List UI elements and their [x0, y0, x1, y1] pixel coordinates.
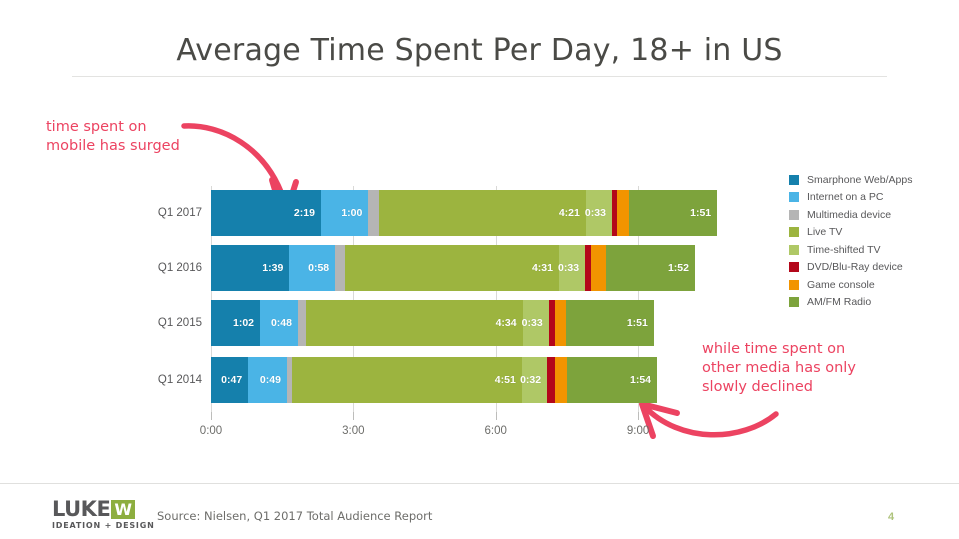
legend-color-swatch	[789, 297, 799, 307]
chart-bar-segment: 0:47	[211, 357, 248, 403]
legend-color-swatch	[789, 280, 799, 290]
legend-label: Internet on a PC	[807, 191, 883, 203]
x-axis-tick-label: 3:00	[342, 425, 364, 437]
legend-item[interactable]: Live TV	[789, 224, 912, 242]
chart-bar-segment-label: 1:00	[341, 207, 368, 219]
legend-color-swatch	[789, 262, 799, 272]
chart-bar-segment: 1:52	[606, 245, 695, 291]
chart-bar-segment	[368, 190, 379, 236]
x-axis-tick	[211, 412, 212, 420]
chart-bar-segment: 0:58	[289, 245, 335, 291]
chart-bar-segment: 4:34	[306, 300, 523, 346]
legend-color-swatch	[789, 192, 799, 202]
legend-item[interactable]: Game console	[789, 276, 912, 294]
source-note: Source: Nielsen, Q1 2017 Total Audience …	[157, 509, 432, 523]
legend-item[interactable]: AM/FM Radio	[789, 294, 912, 312]
x-axis-tick-label: 0:00	[200, 425, 222, 437]
legend-label: Multimedia device	[807, 209, 891, 221]
chart-bar-segment	[555, 357, 567, 403]
chart-bar-segment	[335, 245, 344, 291]
logo-wordmark: LUKE	[52, 500, 110, 519]
legend-item[interactable]: Internet on a PC	[789, 189, 912, 207]
chart-bar-segment: 0:49	[248, 357, 287, 403]
legend-color-swatch	[789, 175, 799, 185]
chart-bar-segment: 4:51	[292, 357, 522, 403]
chart-bar-segment: 0:48	[260, 300, 298, 346]
legend-item[interactable]: DVD/Blu-Ray device	[789, 259, 912, 277]
logo-accent-mark: W	[111, 500, 135, 519]
chart-bar-segment	[298, 300, 306, 346]
legend-color-swatch	[789, 227, 799, 237]
chart-bar-segment: 1:02	[211, 300, 260, 346]
chart-bar-segment: 0:32	[522, 357, 547, 403]
chart-bar-segment-label: 1:51	[690, 207, 717, 219]
chart-bar-segment-label: 0:33	[558, 262, 585, 274]
legend-label: Game console	[807, 279, 875, 291]
chart-bar-segment-label: 0:48	[271, 317, 298, 329]
chart-bar-segment	[555, 300, 566, 346]
chart-bar-segment-label: 0:33	[585, 207, 612, 219]
legend-item[interactable]: Time-shifted TV	[789, 241, 912, 259]
chart-bar-segment	[617, 190, 629, 236]
chart-legend: Smarphone Web/AppsInternet on a PCMultim…	[789, 171, 912, 311]
chart-bar-stack: 0:470:494:510:321:54	[0, 357, 959, 403]
chart-bar-segment-label: 1:02	[233, 317, 260, 329]
chart-bar-segment	[547, 357, 555, 403]
legend-label: AM/FM Radio	[807, 296, 871, 308]
chart-bar-segment-label: 1:51	[627, 317, 654, 329]
chart-bar-segment-label: 1:39	[262, 262, 289, 274]
chart-bar-segment-label: 0:32	[520, 374, 547, 386]
legend-label: Time-shifted TV	[807, 244, 881, 256]
chart-bar-segment: 0:33	[559, 245, 585, 291]
chart-bar-segment: 1:54	[567, 357, 657, 403]
chart-bar-segment: 4:31	[345, 245, 559, 291]
legend-label: Smarphone Web/Apps	[807, 174, 912, 186]
chart-bar-segment-label: 2:19	[294, 207, 321, 219]
chart-bar-segment-label: 4:51	[495, 374, 522, 386]
legend-label: DVD/Blu-Ray device	[807, 261, 903, 273]
page-number: 4	[888, 511, 894, 523]
chart-bar-segment: 1:39	[211, 245, 289, 291]
chart-bar-segment-label: 1:52	[668, 262, 695, 274]
x-axis-tick-label: 6:00	[484, 425, 506, 437]
legend-label: Live TV	[807, 226, 842, 238]
chart-bar-segment-label: 0:47	[221, 374, 248, 386]
chart-bar-segment-label: 0:33	[522, 317, 549, 329]
legend-color-swatch	[789, 245, 799, 255]
slide-canvas: Average Time Spent Per Day, 18+ in US ti…	[0, 0, 959, 539]
chart-bar-segment-label: 4:21	[559, 207, 586, 219]
legend-item[interactable]: Smarphone Web/Apps	[789, 171, 912, 189]
chart-bar-segment: 1:51	[629, 190, 717, 236]
chart-bar-segment: 1:51	[566, 300, 654, 346]
brand-logo: LUKE W IDEATION + DESIGN	[52, 500, 155, 530]
chart-bar-segment	[591, 245, 606, 291]
chart-bar-segment: 0:33	[586, 190, 612, 236]
chart-bar-segment-label: 1:54	[630, 374, 657, 386]
chart-bar-segment: 0:33	[523, 300, 549, 346]
legend-item[interactable]: Multimedia device	[789, 206, 912, 224]
chart-bar-segment: 4:21	[379, 190, 585, 236]
x-axis-tick	[353, 412, 354, 420]
chart-bar-segment-label: 4:31	[532, 262, 559, 274]
chart-bar-segment-label: 4:34	[496, 317, 523, 329]
chart-bar-segment: 2:19	[211, 190, 321, 236]
legend-color-swatch	[789, 210, 799, 220]
chart-bar-segment-label: 0:49	[260, 374, 287, 386]
footer-divider	[0, 483, 959, 484]
chart-bar-segment: 1:00	[321, 190, 368, 236]
chart-bar-segment-label: 0:58	[308, 262, 335, 274]
x-axis-tick	[496, 412, 497, 420]
x-axis-tick	[638, 412, 639, 420]
logo-tagline: IDEATION + DESIGN	[52, 521, 155, 530]
x-axis-tick-label: 9:00	[627, 425, 649, 437]
